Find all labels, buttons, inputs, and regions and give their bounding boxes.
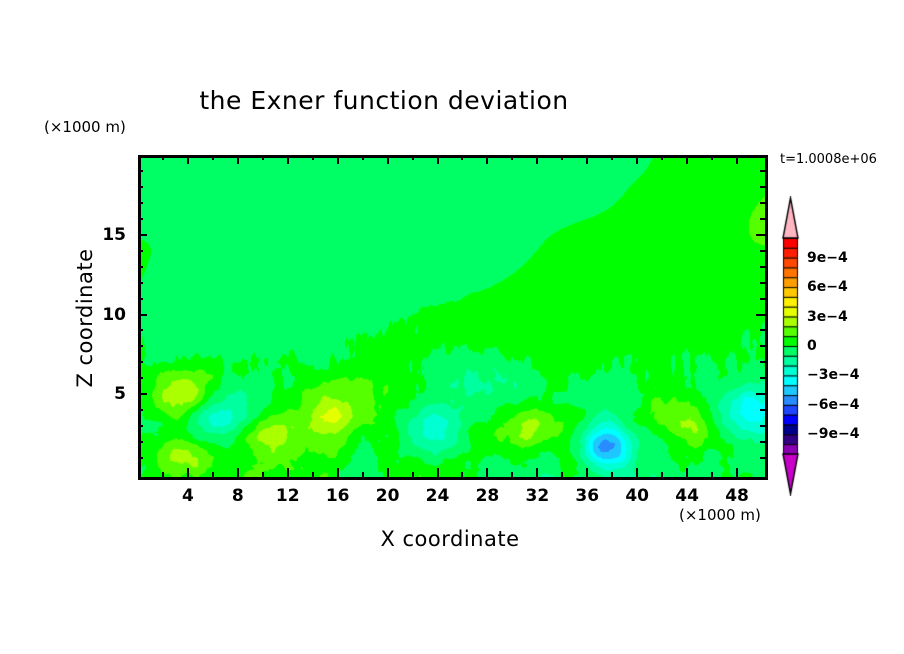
x-tick-top bbox=[636, 155, 638, 164]
x-tick bbox=[287, 468, 289, 477]
y-tick bbox=[138, 409, 143, 411]
y-tick bbox=[138, 329, 143, 331]
x-tick-label: 24 bbox=[415, 486, 461, 506]
x-tick-top bbox=[661, 155, 663, 160]
x-tick bbox=[636, 468, 638, 477]
x-tick-label: 28 bbox=[464, 486, 510, 506]
x-axis-units-label: (×1000 m) bbox=[679, 506, 761, 524]
x-tick bbox=[711, 472, 713, 477]
y-tick-right bbox=[760, 186, 765, 188]
y-axis-units-label: (×1000 m) bbox=[44, 118, 126, 136]
contour-plot-figure: the Exner function deviation (×1000 m) t… bbox=[0, 0, 904, 654]
x-tick bbox=[586, 468, 588, 477]
x-tick-top bbox=[586, 155, 588, 164]
x-tick bbox=[312, 472, 314, 477]
x-tick-top bbox=[561, 155, 563, 160]
colorbar: 9e−46e−43e−40−3e−4−6e−4−9e−4 bbox=[775, 196, 805, 500]
colorbar-tick-label: −9e−4 bbox=[807, 426, 859, 442]
colorbar-gradient bbox=[775, 196, 805, 496]
y-tick-right bbox=[756, 314, 765, 316]
x-tick-top bbox=[536, 155, 538, 164]
y-tick bbox=[138, 345, 143, 347]
y-tick bbox=[138, 457, 143, 459]
x-tick-top bbox=[461, 155, 463, 160]
x-tick-top bbox=[412, 155, 414, 160]
y-tick-right bbox=[760, 441, 765, 443]
y-tick-right bbox=[760, 250, 765, 252]
y-tick-right bbox=[756, 234, 765, 236]
x-tick-label: 32 bbox=[514, 486, 560, 506]
y-tick bbox=[138, 250, 143, 252]
x-tick bbox=[362, 472, 364, 477]
x-tick-label: 36 bbox=[564, 486, 610, 506]
x-tick-top bbox=[437, 155, 439, 164]
x-tick-top bbox=[486, 155, 488, 164]
y-tick bbox=[138, 425, 143, 427]
y-tick bbox=[138, 393, 147, 395]
x-tick bbox=[162, 472, 164, 477]
x-tick bbox=[561, 472, 563, 477]
x-tick-label: 48 bbox=[714, 486, 760, 506]
x-tick-top bbox=[237, 155, 239, 164]
x-axis-title: X coordinate bbox=[138, 527, 762, 551]
x-tick-top bbox=[337, 155, 339, 164]
x-tick bbox=[486, 468, 488, 477]
x-tick bbox=[661, 472, 663, 477]
x-tick-top bbox=[387, 155, 389, 164]
x-tick-top bbox=[287, 155, 289, 164]
x-tick bbox=[736, 468, 738, 477]
x-tick-label: 44 bbox=[664, 486, 710, 506]
y-tick bbox=[138, 441, 143, 443]
y-tick-right bbox=[760, 409, 765, 411]
y-tick bbox=[138, 202, 143, 204]
y-tick bbox=[138, 314, 147, 316]
colorbar-tick-label: −6e−4 bbox=[807, 397, 859, 413]
colorbar-tick-label: −3e−4 bbox=[807, 367, 859, 383]
x-tick bbox=[387, 468, 389, 477]
y-tick bbox=[138, 282, 143, 284]
y-tick-right bbox=[760, 202, 765, 204]
y-tick bbox=[138, 377, 143, 379]
y-tick-right bbox=[760, 218, 765, 220]
x-tick-top bbox=[312, 155, 314, 160]
x-tick-top bbox=[262, 155, 264, 160]
colorbar-tick-label: 3e−4 bbox=[807, 309, 848, 325]
x-tick-top bbox=[187, 155, 189, 164]
y-tick bbox=[138, 218, 143, 220]
plot-area bbox=[138, 155, 768, 480]
x-tick bbox=[461, 472, 463, 477]
page-title: the Exner function deviation bbox=[0, 86, 768, 115]
x-tick-label: 12 bbox=[265, 486, 311, 506]
x-tick bbox=[187, 468, 189, 477]
x-tick bbox=[536, 468, 538, 477]
y-tick-right bbox=[760, 170, 765, 172]
y-axis-title: Z coordinate bbox=[73, 198, 97, 438]
x-tick bbox=[511, 472, 513, 477]
y-tick-right bbox=[760, 282, 765, 284]
x-tick bbox=[212, 472, 214, 477]
y-tick-right bbox=[760, 329, 765, 331]
colorbar-tick-label: 6e−4 bbox=[807, 279, 848, 295]
x-tick-top bbox=[611, 155, 613, 160]
x-tick-top bbox=[511, 155, 513, 160]
x-tick bbox=[437, 468, 439, 477]
x-tick-top bbox=[686, 155, 688, 164]
y-tick-right bbox=[760, 361, 765, 363]
y-tick-right bbox=[760, 266, 765, 268]
y-tick-right bbox=[760, 377, 765, 379]
x-tick-top bbox=[362, 155, 364, 160]
contour-field-canvas bbox=[141, 158, 765, 477]
x-tick bbox=[337, 468, 339, 477]
x-tick bbox=[262, 472, 264, 477]
y-tick bbox=[138, 234, 147, 236]
x-tick-top bbox=[711, 155, 713, 160]
x-tick-top bbox=[736, 155, 738, 164]
x-tick-label: 8 bbox=[215, 486, 261, 506]
x-tick-label: 4 bbox=[165, 486, 211, 506]
timestamp-annotation: t=1.0008e+06 bbox=[780, 152, 877, 167]
y-tick bbox=[138, 266, 143, 268]
y-tick bbox=[138, 298, 143, 300]
x-tick bbox=[686, 468, 688, 477]
y-tick-right bbox=[760, 298, 765, 300]
y-tick-right bbox=[756, 393, 765, 395]
colorbar-tick-label: 9e−4 bbox=[807, 250, 848, 266]
x-tick bbox=[412, 472, 414, 477]
y-tick-right bbox=[760, 457, 765, 459]
x-tick-label: 20 bbox=[365, 486, 411, 506]
y-tick bbox=[138, 170, 143, 172]
y-tick-right bbox=[760, 345, 765, 347]
y-tick bbox=[138, 186, 143, 188]
x-tick bbox=[611, 472, 613, 477]
y-tick bbox=[138, 361, 143, 363]
x-tick-label: 16 bbox=[315, 486, 361, 506]
x-tick-top bbox=[212, 155, 214, 160]
x-tick-top bbox=[162, 155, 164, 160]
x-tick bbox=[237, 468, 239, 477]
colorbar-tick-label: 0 bbox=[807, 338, 817, 354]
y-tick-right bbox=[760, 425, 765, 427]
x-tick-label: 40 bbox=[614, 486, 660, 506]
